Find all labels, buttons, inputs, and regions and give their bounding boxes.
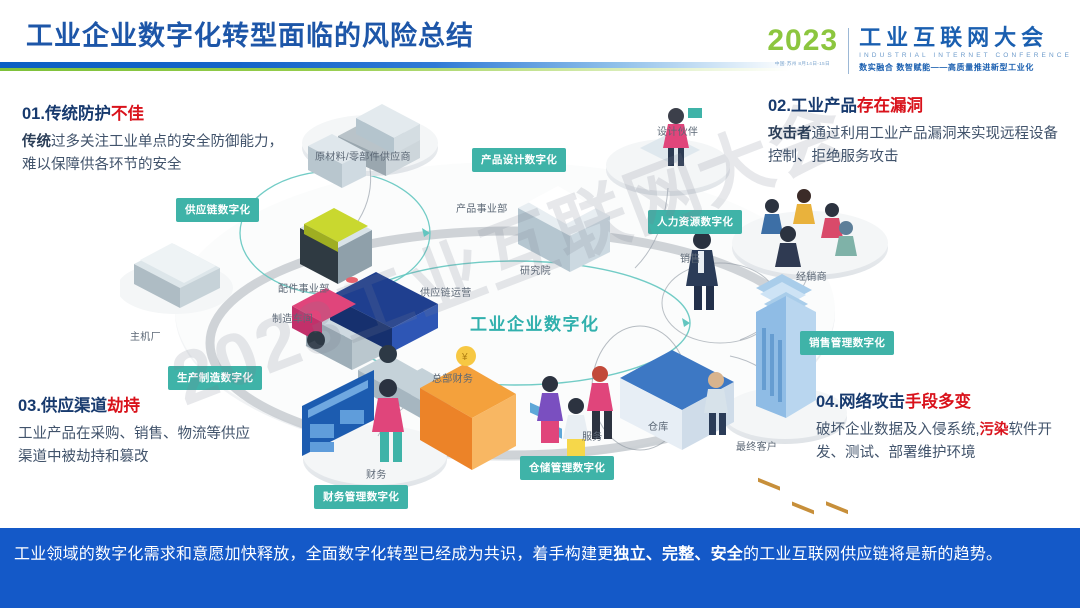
- label-warehouse: 仓库: [648, 418, 669, 433]
- label-supplier: 原材料/零部件供应商: [315, 148, 411, 163]
- logo-slogan: 数实融合 数智赋能——高质量推进新型工业化: [859, 62, 1072, 73]
- tag-product-design-digital: 产品设计数字化: [472, 148, 566, 172]
- header-divider-green: [0, 68, 790, 71]
- bottom-summary-text: 工业领域的数字化需求和意愿加快释放，全面数字化转型已经成为共识，着手构建更独立、…: [14, 541, 1066, 569]
- page-title: 工业企业数字化转型面临的风险总结: [26, 14, 474, 53]
- label-sales-person: 销售: [680, 250, 701, 265]
- risk-02-body-rest: 通过利用工业产品漏洞来实现远程设备控制、拒绝服务攻击: [768, 126, 1058, 165]
- risk-01-title: 传统防护: [45, 105, 111, 123]
- logo-year-block: 2023 中国·苏州 8月14日-15日: [767, 26, 848, 67]
- risk-04-body-before: 破坏企业数据及入侵系统,: [816, 422, 980, 438]
- risk-01-heading: 01.传统防护不佳: [22, 100, 292, 124]
- risk-04-body-highlight: 污染: [980, 422, 1009, 438]
- banner-part-2: 的工业互联网供应链将是新的趋势。: [743, 546, 1002, 563]
- logo-year: 2023: [767, 26, 838, 56]
- label-host-factory: 主机厂: [130, 328, 161, 343]
- tag-hr-digital: 人力资源数字化: [648, 210, 742, 234]
- risk-01-number: 01.: [22, 105, 45, 123]
- risk-03-title: 供应渠道: [41, 397, 107, 415]
- risk-01-body-strong: 传统: [22, 134, 51, 150]
- risk-04-body: 破坏企业数据及入侵系统,污染软件开发、测试、部署维护环境: [816, 419, 1074, 466]
- risk-03-heading: 03.供应渠道劫持: [18, 392, 258, 416]
- risk-02-number: 02.: [768, 97, 791, 115]
- risk-03-body: 工业产品在采购、销售、物流等供应渠道中被劫持和篡改: [18, 423, 258, 470]
- label-design-partner: 设计伙伴: [657, 123, 698, 138]
- risk-block-02: 02.工业产品存在漏洞 攻击者通过利用工业产品漏洞来实现远程设备控制、拒绝服务攻…: [768, 92, 1068, 170]
- tag-finance-management-digital: 财务管理数字化: [314, 485, 408, 509]
- label-dealer: 经销商: [796, 268, 827, 283]
- label-service: 服务: [582, 428, 603, 443]
- logo-text-block: 工业互联网大会 INDUSTRIAL INTERNET CONFERENCE 数…: [859, 26, 1072, 73]
- label-manufacturing-workshop: 制造车间: [272, 310, 313, 325]
- tag-production-digital: 生产制造数字化: [168, 366, 262, 390]
- risk-04-title-highlight: 手段多变: [905, 393, 971, 411]
- slide-root: 工业企业数字化转型面临的风险总结 2023 中国·苏州 8月14日-15日 工业…: [0, 0, 1080, 608]
- risk-02-body: 攻击者通过利用工业产品漏洞来实现远程设备控制、拒绝服务攻击: [768, 123, 1068, 170]
- label-finance: 财务: [366, 466, 387, 481]
- risk-02-title-highlight: 存在漏洞: [857, 97, 923, 115]
- risk-02-title: 工业产品: [791, 97, 857, 115]
- header-divider: [0, 62, 790, 71]
- risk-03-number: 03.: [18, 397, 41, 415]
- bottom-summary-banner: 工业领域的数字化需求和意愿加快释放，全面数字化转型已经成为共识，着手构建更独立、…: [0, 528, 1080, 608]
- risk-01-body: 传统过多关注工业单点的安全防御能力，难以保障供各环节的安全: [22, 131, 292, 178]
- label-parts-division: 配件事业部: [278, 280, 330, 295]
- risk-03-body-rest: 工业产品在采购、销售、物流等供应渠道中被劫持和篡改: [18, 426, 250, 465]
- risk-01-title-highlight: 不佳: [111, 105, 144, 123]
- diagram-center-label: 工业企业数字化: [470, 310, 600, 335]
- conference-logo: 2023 中国·苏州 8月14日-15日 工业互联网大会 INDUSTRIAL …: [767, 26, 1072, 80]
- logo-name-cn: 工业互联网大会: [859, 26, 1072, 49]
- tag-warehouse-management-digital: 仓储管理数字化: [520, 456, 614, 480]
- label-end-customer: 最终客户: [736, 438, 777, 453]
- risk-block-01: 01.传统防护不佳 传统过多关注工业单点的安全防御能力，难以保障供各环节的安全: [22, 100, 292, 178]
- risk-02-body-strong: 攻击者: [768, 126, 812, 142]
- label-supply-chain-ops: 供应链运营: [420, 284, 472, 299]
- risk-block-04: 04.网络攻击手段多变 破坏企业数据及入侵系统,污染软件开发、测试、部署维护环境: [816, 388, 1074, 466]
- svg-text:¥: ¥: [461, 352, 468, 363]
- risk-04-heading: 04.网络攻击手段多变: [816, 388, 1074, 412]
- banner-part-1: 工业领域的数字化需求和意愿加快释放，全面数字化转型已经成为共识，着手构建更: [14, 546, 613, 563]
- risk-03-title-highlight: 劫持: [107, 397, 140, 415]
- risk-04-title: 网络攻击: [839, 393, 905, 411]
- tag-sales-management-digital: 销售管理数字化: [800, 331, 894, 355]
- risk-01-body-rest: 过多关注工业单点的安全防御能力，难以保障供各环节的安全: [22, 134, 283, 173]
- label-product-division: 产品事业部: [456, 200, 508, 215]
- risk-02-heading: 02.工业产品存在漏洞: [768, 92, 1068, 116]
- logo-year-subtitle: 中国·苏州 8月14日-15日: [769, 60, 836, 67]
- risk-block-03: 03.供应渠道劫持 工业产品在采购、销售、物流等供应渠道中被劫持和篡改: [18, 392, 258, 470]
- logo-name-en: INDUSTRIAL INTERNET CONFERENCE: [859, 52, 1072, 59]
- risk-04-number: 04.: [816, 393, 839, 411]
- logo-divider: [848, 28, 849, 74]
- label-hq-finance: 总部财务: [432, 370, 473, 385]
- tag-supply-chain-digital: 供应链数字化: [176, 198, 259, 222]
- label-research-institute: 研究院: [520, 262, 551, 277]
- banner-bold-1: 独立、完整、安全: [613, 546, 743, 563]
